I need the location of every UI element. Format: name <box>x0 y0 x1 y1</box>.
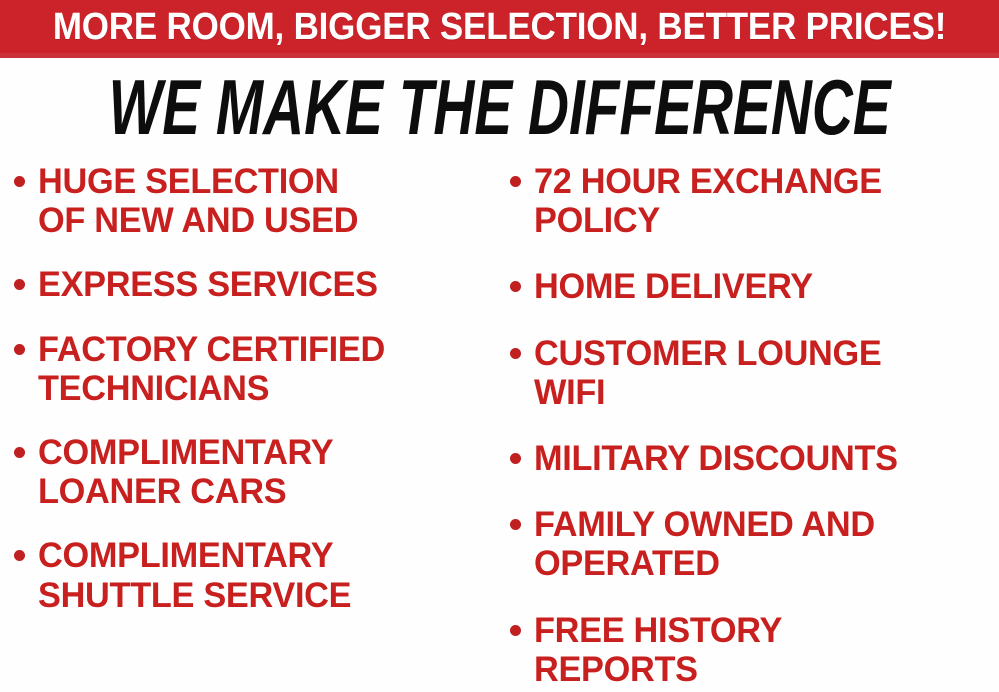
promo-banner: MORE ROOM, BIGGER SELECTION, BETTER PRIC… <box>0 0 999 57</box>
list-item: CUSTOMER LOUNGE WIFI <box>510 334 999 412</box>
list-item: FAMILY OWNED AND OPERATED <box>510 505 999 583</box>
list-item-label: FREE HISTORY REPORTS <box>534 611 782 689</box>
list-item-label: FAMILY OWNED AND OPERATED <box>534 505 875 583</box>
bullet-dot-icon <box>14 447 25 458</box>
page-title-text: WE MAKE THE DIFFERENCE <box>108 68 890 146</box>
page-title: WE MAKE THE DIFFERENCE <box>0 68 999 134</box>
benefits-column-left: HUGE SELECTION OF NEW AND USED EXPRESS S… <box>14 162 504 692</box>
bullet-dot-icon <box>510 281 521 292</box>
benefits-columns: HUGE SELECTION OF NEW AND USED EXPRESS S… <box>0 162 999 692</box>
bullet-dot-icon <box>14 176 25 187</box>
list-item-label: COMPLIMENTARY SHUTTLE SERVICE <box>38 536 351 614</box>
bullet-dot-icon <box>510 519 521 530</box>
dealership-advertisement: MORE ROOM, BIGGER SELECTION, BETTER PRIC… <box>0 0 999 692</box>
list-item: FREE HISTORY REPORTS <box>510 611 999 689</box>
list-item-label: 72 HOUR EXCHANGE POLICY <box>534 162 882 240</box>
bullet-dot-icon <box>510 348 521 359</box>
bullet-dot-icon <box>14 279 25 290</box>
promo-banner-text: MORE ROOM, BIGGER SELECTION, BETTER PRIC… <box>53 8 946 46</box>
bullet-dot-icon <box>14 344 25 355</box>
list-item-label: HOME DELIVERY <box>534 267 813 306</box>
list-item-label: MILITARY DISCOUNTS <box>534 439 898 478</box>
benefits-column-right: 72 HOUR EXCHANGE POLICY HOME DELIVERY CU… <box>510 162 999 692</box>
list-item: HUGE SELECTION OF NEW AND USED <box>14 162 504 240</box>
banner-bottom-strip <box>0 53 999 58</box>
bullet-dot-icon <box>14 550 25 561</box>
list-item: COMPLIMENTARY LOANER CARS <box>14 433 504 511</box>
bullet-dot-icon <box>510 625 521 636</box>
list-item: MILITARY DISCOUNTS <box>510 439 999 478</box>
list-item-label: FACTORY CERTIFIED TECHNICIANS <box>38 330 385 408</box>
list-item-label: HUGE SELECTION OF NEW AND USED <box>38 162 358 240</box>
list-item: 72 HOUR EXCHANGE POLICY <box>510 162 999 240</box>
list-item: HOME DELIVERY <box>510 267 999 306</box>
bullet-dot-icon <box>510 453 521 464</box>
list-item: COMPLIMENTARY SHUTTLE SERVICE <box>14 536 504 614</box>
list-item-label: CUSTOMER LOUNGE WIFI <box>534 334 882 412</box>
list-item: FACTORY CERTIFIED TECHNICIANS <box>14 330 504 408</box>
bullet-dot-icon <box>510 176 521 187</box>
list-item: EXPRESS SERVICES <box>14 265 504 304</box>
list-item-label: EXPRESS SERVICES <box>38 265 378 304</box>
list-item-label: COMPLIMENTARY LOANER CARS <box>38 433 333 511</box>
